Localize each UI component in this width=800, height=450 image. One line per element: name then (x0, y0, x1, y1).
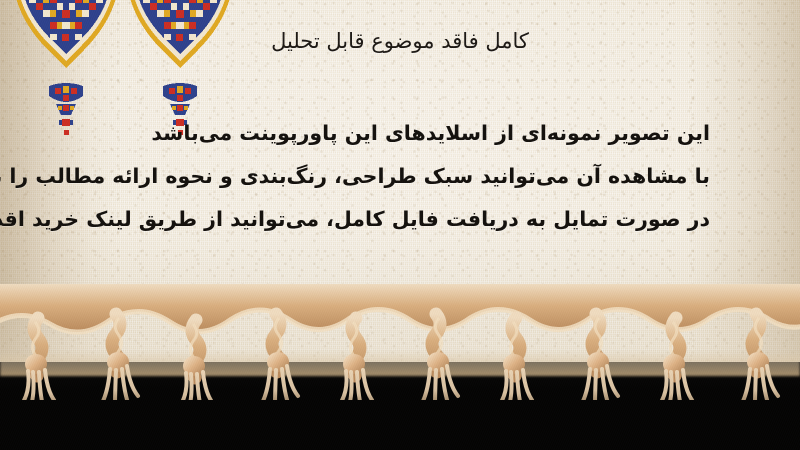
page-title: کامل فاقد موضوع قابل تحلیل (0, 26, 800, 56)
body-line-2: با مشاهده آن می‌توانید سبک طراحی، رنگ‌بن… (85, 155, 710, 198)
body-line-3: در صورت تمایل به دریافت فایل کامل، می‌تو… (85, 198, 710, 241)
body-line-1: این تصویر نمونه‌ای از اسلایدهای این پاور… (85, 112, 710, 155)
slide-canvas: کامل فاقد موضوع قابل تحلیل این تصویر نمو… (0, 0, 800, 450)
body-text-block: این تصویر نمونه‌ای از اسلایدهای این پاور… (85, 112, 710, 241)
kilim-tail-motif-icon (43, 82, 89, 138)
carpet-fringe-icon (0, 280, 800, 400)
